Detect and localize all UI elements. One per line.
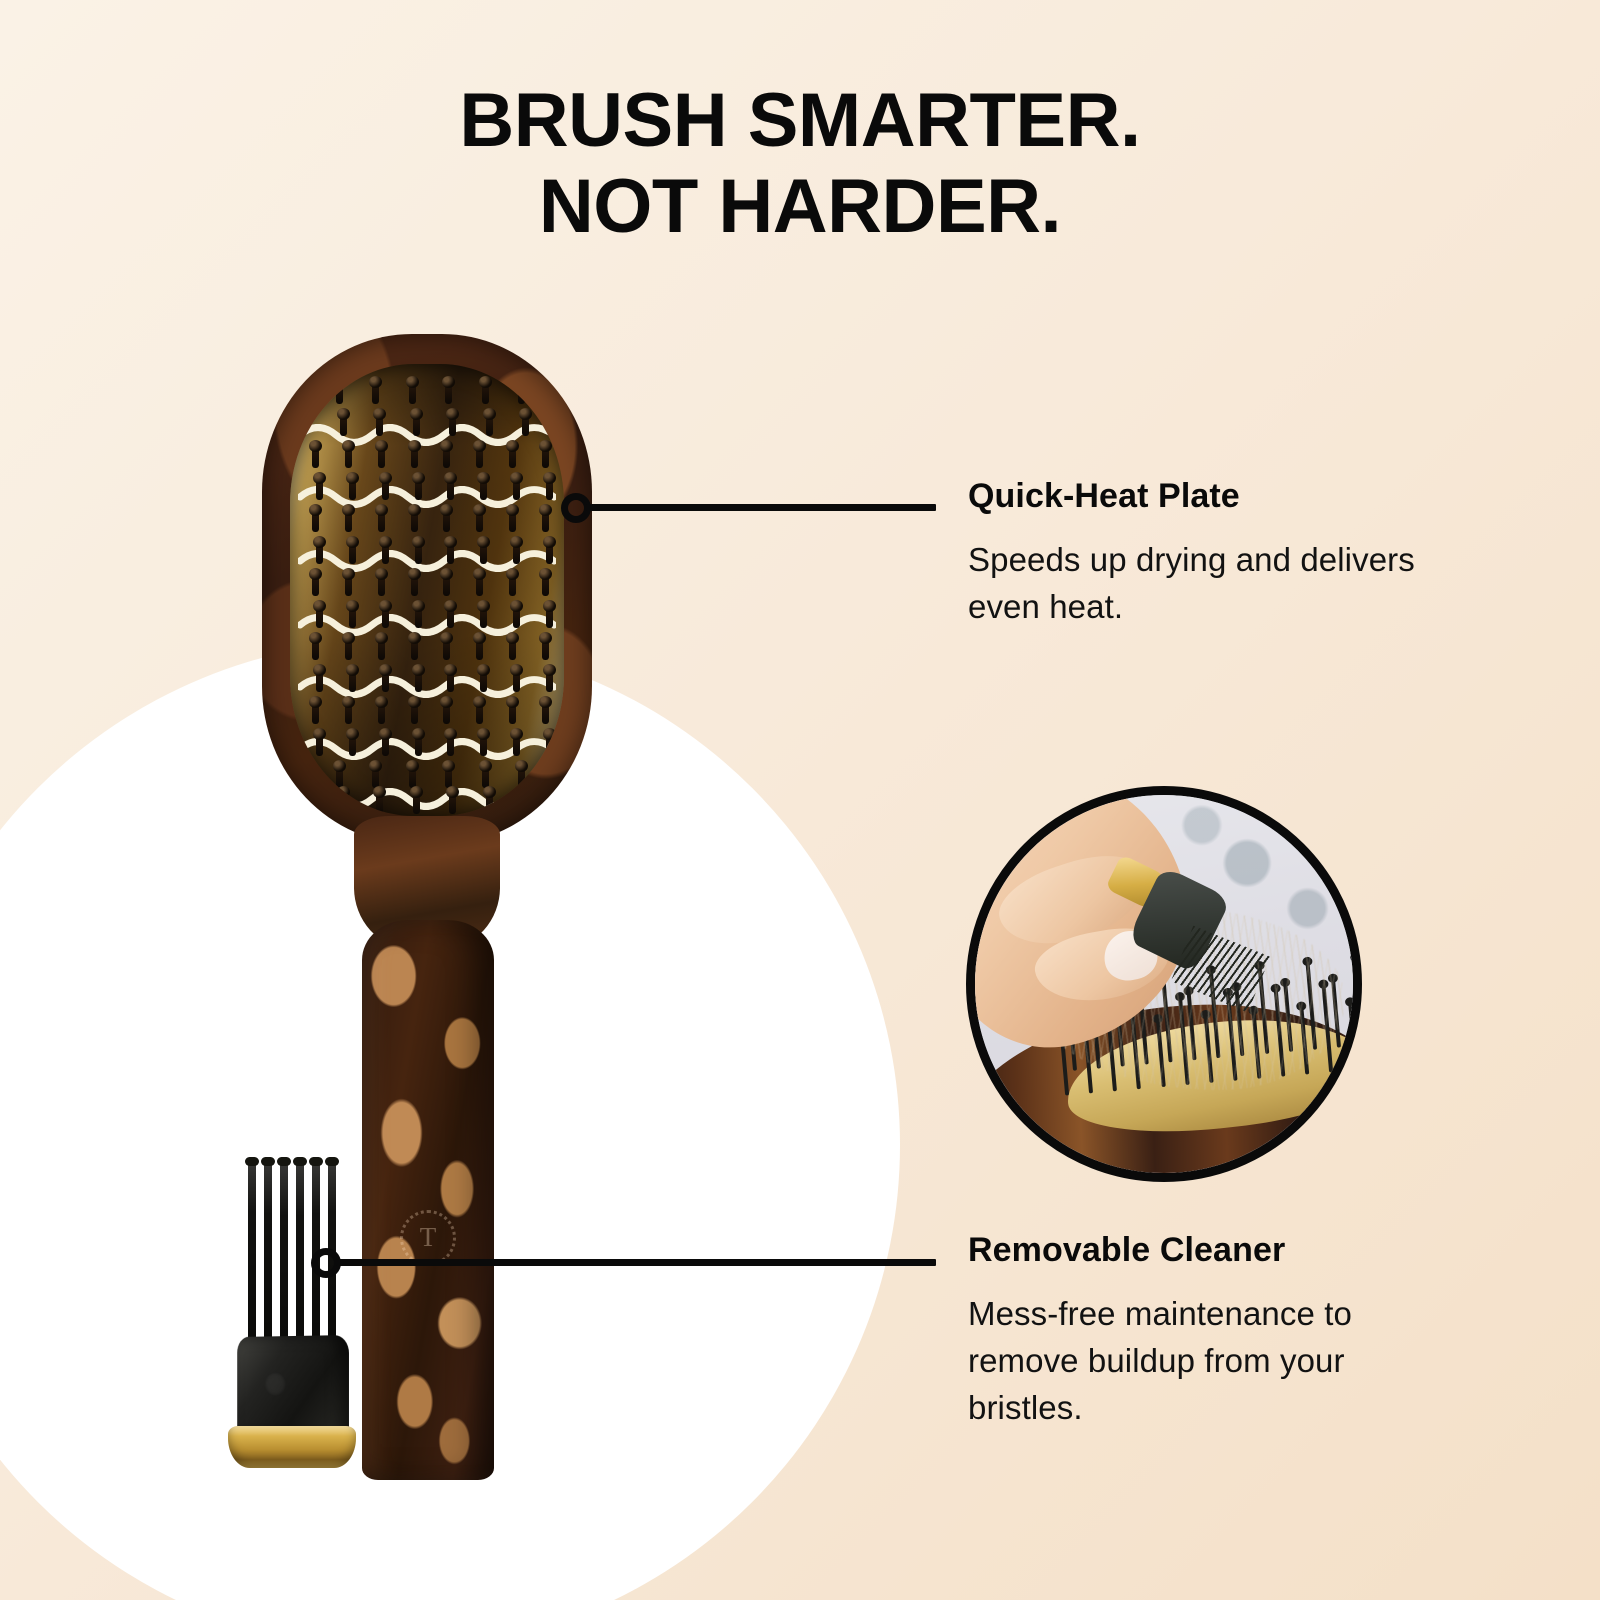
bristle-pin <box>476 512 483 532</box>
callout-title-removable-cleaner: Removable Cleaner <box>968 1232 1468 1269</box>
bristle-pin <box>378 640 385 660</box>
bristle-pin <box>513 544 520 564</box>
bristle-pin <box>518 384 525 404</box>
bristle-pin <box>349 544 356 564</box>
bristle-pin <box>513 736 520 756</box>
bristle-pin <box>345 704 352 724</box>
bristle-pin <box>411 704 418 724</box>
bristle-pin <box>340 794 347 814</box>
bristle-pin-rows <box>290 364 564 816</box>
bristle-pin <box>382 608 389 628</box>
bristle-pin <box>480 608 487 628</box>
bristle-pin <box>376 794 383 814</box>
bristle-pin <box>415 608 422 628</box>
callout-quick-heat-plate: Quick-Heat Plate Speeds up drying and de… <box>968 478 1468 631</box>
bristle-pin <box>415 480 422 500</box>
bristle-pin <box>378 512 385 532</box>
bristle-pin <box>443 576 450 596</box>
bristle-pin <box>378 704 385 724</box>
bristle-pin <box>312 448 319 468</box>
bristle-pin <box>509 704 516 724</box>
bristle-pin <box>443 704 450 724</box>
bristle-pin <box>509 640 516 660</box>
bristle-pin <box>447 608 454 628</box>
bristle-pin <box>349 608 356 628</box>
quick-heat-plate-graphic <box>290 364 564 816</box>
bristle-pin <box>411 448 418 468</box>
inset-photo-content <box>975 795 1353 1173</box>
bristle-pin <box>522 794 529 814</box>
bristle-pin <box>509 576 516 596</box>
cleaner-prong <box>296 1158 304 1351</box>
bristle-pin <box>316 672 323 692</box>
headline-line-2: NOT HARDER. <box>0 164 1600 250</box>
bristle-pin <box>480 736 487 756</box>
bristle-pin <box>546 544 553 564</box>
bristle-pin <box>486 794 493 814</box>
bristle-pin <box>378 576 385 596</box>
bristle-pin <box>542 640 549 660</box>
bristle-pin <box>376 416 383 436</box>
bristle-pin <box>411 576 418 596</box>
bristle-pin <box>447 544 454 564</box>
bristle-pin <box>443 448 450 468</box>
bristle-pin <box>449 416 456 436</box>
bristle-pin <box>522 416 529 436</box>
bristle-pin <box>546 608 553 628</box>
bristle-pin <box>312 640 319 660</box>
bristle-pin <box>312 512 319 532</box>
bristle-pin <box>542 448 549 468</box>
bristle-pin <box>316 480 323 500</box>
leader-line-quick-heat-plate <box>586 504 936 511</box>
cleaner-prong <box>248 1158 256 1339</box>
bristle-pin <box>482 384 489 404</box>
bristle-pin <box>340 416 347 436</box>
bristle-pin <box>513 608 520 628</box>
bristle-pin <box>415 544 422 564</box>
bristle-pin <box>409 768 416 788</box>
bristle-pin <box>443 640 450 660</box>
brush-handle <box>362 920 494 1480</box>
bristle-pin <box>447 736 454 756</box>
brush-head <box>262 334 592 844</box>
bristle-pin <box>476 448 483 468</box>
bristle-pin <box>546 736 553 756</box>
bristle-pin <box>345 448 352 468</box>
bristle-pin <box>411 640 418 660</box>
callout-removable-cleaner: Removable Cleaner Mess-free maintenance … <box>968 1232 1468 1432</box>
brand-mark-letter: T <box>420 1224 437 1251</box>
bristle-pin <box>509 448 516 468</box>
bristle-pin <box>480 544 487 564</box>
bristle-pin <box>349 672 356 692</box>
cleaner-prong <box>264 1158 272 1345</box>
cleaner-prong <box>280 1158 288 1351</box>
bristle-pin <box>445 768 452 788</box>
bristle-pin <box>382 480 389 500</box>
bristle-pin <box>312 576 319 596</box>
bristle-pin <box>382 544 389 564</box>
bristle-pin <box>378 448 385 468</box>
bristle-pin <box>312 704 319 724</box>
bristle-pin <box>372 384 379 404</box>
bristle-pin <box>345 640 352 660</box>
bristle-pin <box>411 512 418 532</box>
bristle-pin <box>345 512 352 532</box>
bristle-pin <box>443 512 450 532</box>
bristle-pin <box>316 608 323 628</box>
bristle-pin <box>336 768 343 788</box>
callout-body-removable-cleaner: Mess-free maintenance to remove buildup … <box>968 1291 1468 1432</box>
callout-title-quick-heat-plate: Quick-Heat Plate <box>968 478 1468 515</box>
headline-line-1: BRUSH SMARTER. <box>0 78 1600 164</box>
bristle-pin <box>480 672 487 692</box>
bristle-pin <box>480 480 487 500</box>
inset-photo-removable-cleaner <box>966 786 1362 1182</box>
bristle-pin <box>449 794 456 814</box>
bristle-pin <box>447 672 454 692</box>
bristle-pin <box>372 768 379 788</box>
bristle-pin <box>349 480 356 500</box>
bristle-pin <box>542 512 549 532</box>
bristle-pin <box>542 704 549 724</box>
removable-cleaner-tool <box>222 1158 362 1468</box>
inset-bristle <box>1348 1001 1358 1071</box>
bristle-pin <box>336 384 343 404</box>
bristle-pin <box>447 480 454 500</box>
bristle-pin <box>415 736 422 756</box>
cleaner-gold-base <box>228 1426 356 1468</box>
inset-bristle <box>1353 956 1362 1045</box>
brand-logo-icon: T <box>400 1210 456 1266</box>
bristle-pin <box>518 768 525 788</box>
bristle-pin <box>546 480 553 500</box>
bristle-pin <box>415 672 422 692</box>
bristle-pin <box>345 576 352 596</box>
bristle-pin <box>382 736 389 756</box>
bristle-pin <box>542 576 549 596</box>
bristle-pin <box>513 480 520 500</box>
bristle-pin <box>486 416 493 436</box>
callout-body-quick-heat-plate: Speeds up drying and delivers even heat. <box>968 537 1468 631</box>
bristle-pin <box>316 736 323 756</box>
bristle-pin <box>413 794 420 814</box>
bristle-pin <box>476 640 483 660</box>
bristle-pin <box>413 416 420 436</box>
bristle-pin <box>316 544 323 564</box>
bristle-pin <box>482 768 489 788</box>
page-title: BRUSH SMARTER. NOT HARDER. <box>0 78 1600 250</box>
product-infographic: BRUSH SMARTER. NOT HARDER. T Quick-Heat … <box>0 0 1600 1600</box>
bristle-pin <box>509 512 516 532</box>
bristle-pin <box>476 576 483 596</box>
bristle-pin <box>445 384 452 404</box>
bristle-pin <box>476 704 483 724</box>
leader-line-removable-cleaner <box>336 1259 936 1266</box>
bristle-pin <box>409 384 416 404</box>
bristle-pin <box>513 672 520 692</box>
bristle-pin <box>546 672 553 692</box>
bristle-pin <box>382 672 389 692</box>
bristle-pin <box>349 736 356 756</box>
